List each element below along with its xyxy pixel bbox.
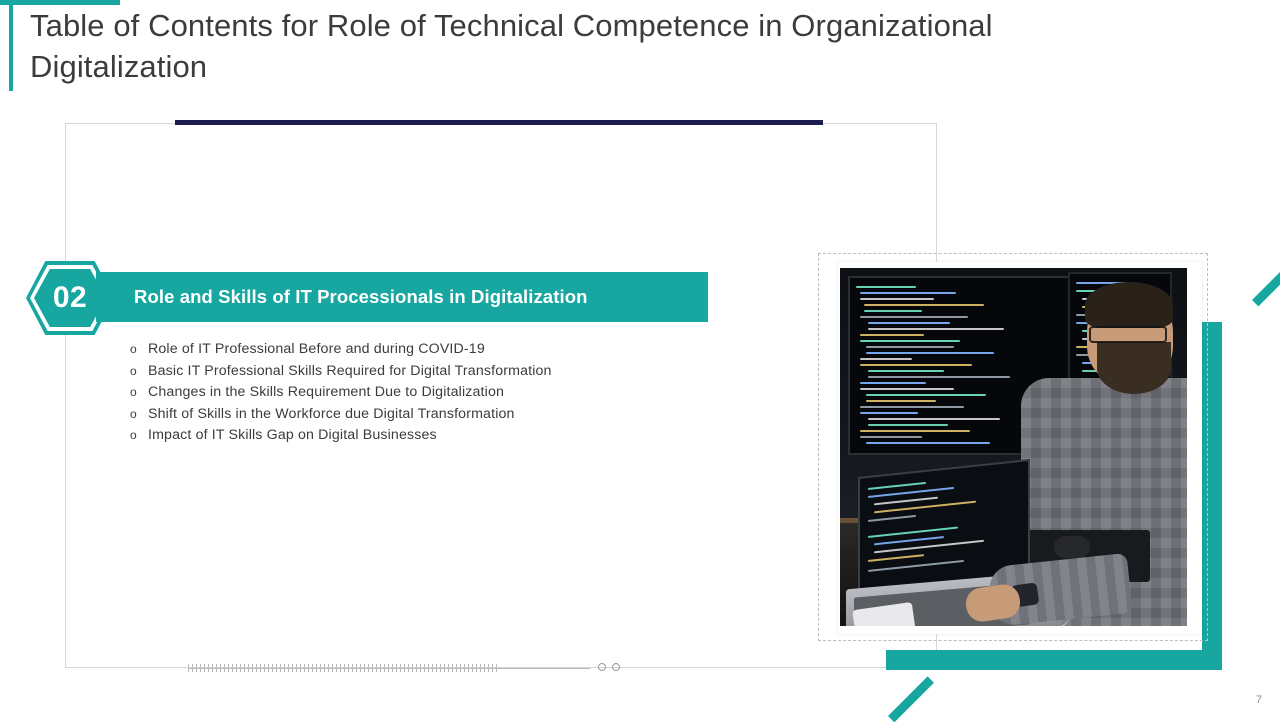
photo-person-beard [1097,342,1171,394]
list-item: o Changes in the Skills Requirement Due … [130,383,750,402]
title-accent-rule [9,5,13,91]
bullet-marker-icon: o [130,405,148,424]
bullet-marker-icon: o [130,362,148,381]
list-item: o Shift of Skills in the Workforce due D… [130,405,750,424]
list-item-label: Basic IT Professional Skills Required fo… [148,362,552,381]
section-bullet-list: o Role of IT Professional Before and dur… [130,340,750,448]
photo-scene [840,268,1187,626]
list-item: o Basic IT Professional Skills Required … [130,362,750,381]
page-number: 7 [1256,694,1262,706]
photo-mouse [1054,536,1090,558]
bullet-marker-icon: o [130,340,148,359]
section-headline-bar: Role and Skills of IT Processionals in D… [96,272,708,322]
photo-person-glasses [1089,326,1167,343]
panel-top-navy-bar [175,120,823,125]
list-item-label: Role of IT Professional Before and durin… [148,340,485,359]
section-headline: Role and Skills of IT Processionals in D… [134,286,588,308]
top-accent-bar [0,0,120,5]
teal-slash-bottom-icon [888,676,934,722]
bullet-marker-icon: o [130,426,148,445]
list-item: o Role of IT Professional Before and dur… [130,340,750,359]
photo-person-hair [1085,282,1173,328]
pagination-dot-1[interactable] [598,663,606,671]
bottom-dotted-ruler [188,664,498,672]
developer-photo [840,268,1187,626]
pagination-dot-2[interactable] [612,663,620,671]
bullet-marker-icon: o [130,383,148,402]
list-item: o Impact of IT Skills Gap on Digital Bus… [130,426,750,445]
list-item-label: Shift of Skills in the Workforce due Dig… [148,405,515,424]
list-item-label: Impact of IT Skills Gap on Digital Busin… [148,426,437,445]
list-item-label: Changes in the Skills Requirement Due to… [148,383,504,402]
teal-frame-horizontal [886,650,1222,670]
section-number: 02 [53,281,87,315]
page-title: Table of Contents for Role of Technical … [30,6,1090,88]
teal-slash-top-icon [1252,263,1280,306]
